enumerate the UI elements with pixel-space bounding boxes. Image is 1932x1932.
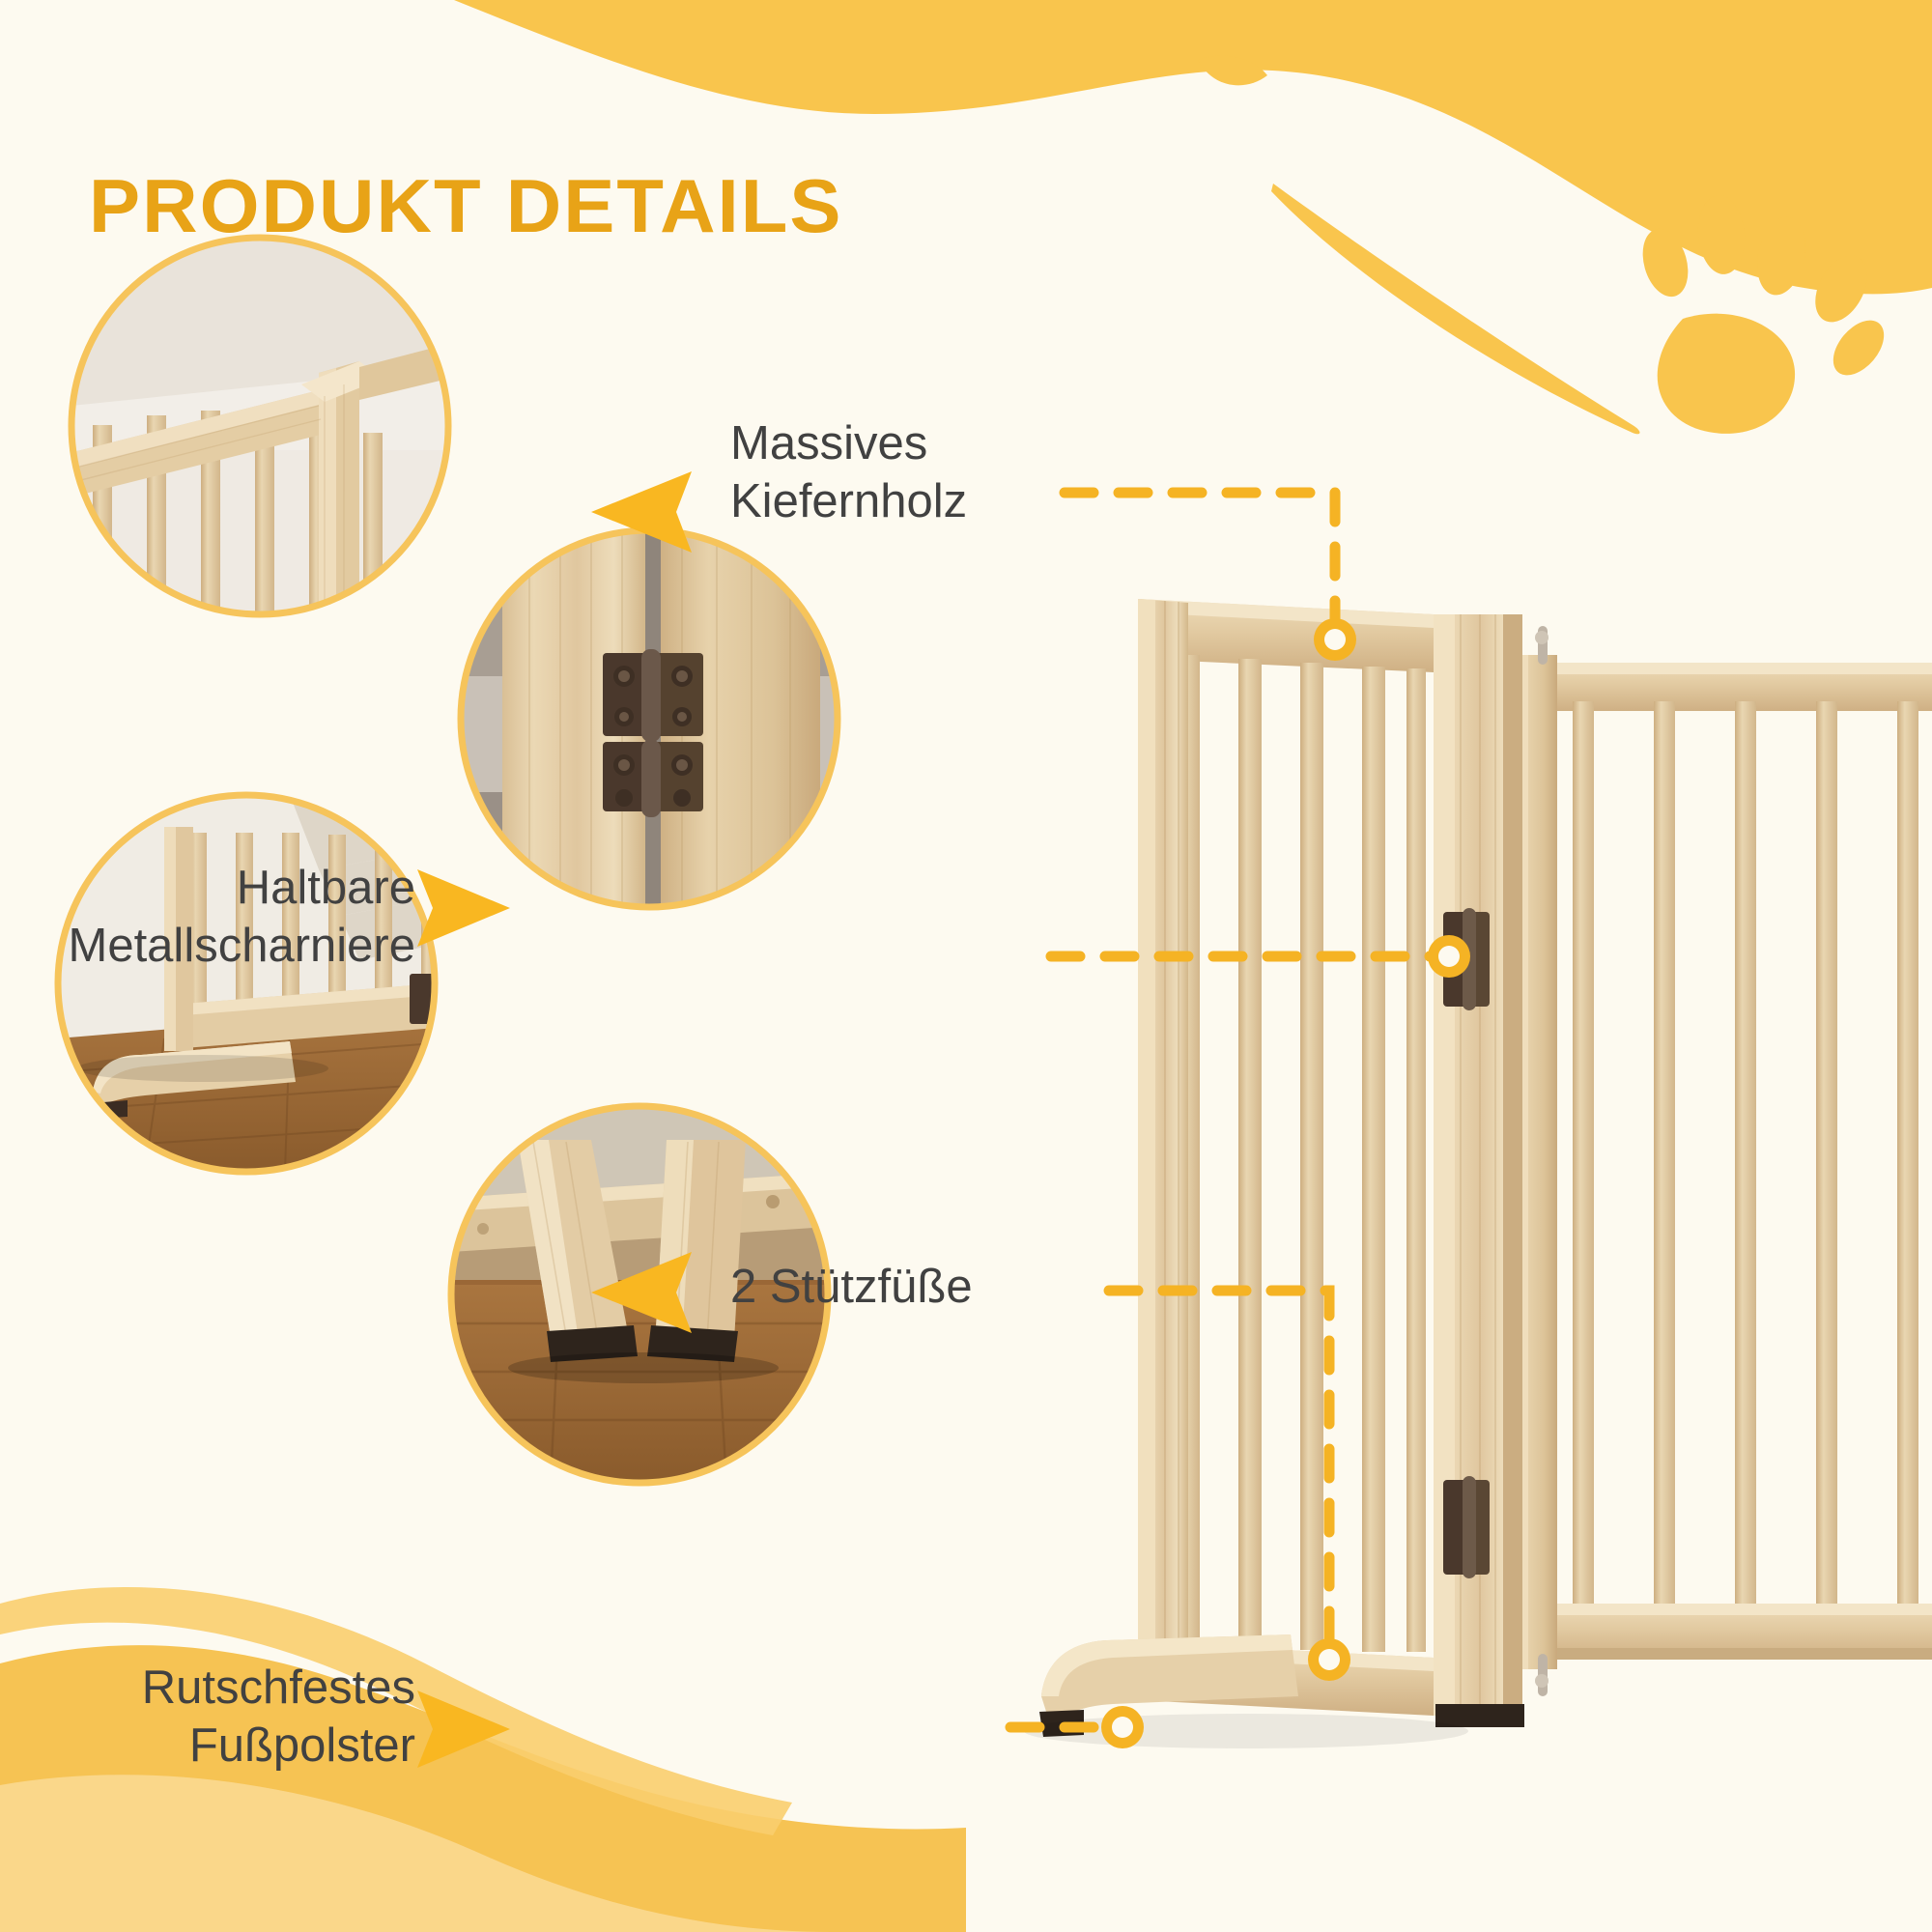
hinge-hardware (603, 649, 703, 817)
feature-arrows (417, 471, 692, 1768)
arrow-right-fusspolster (417, 1690, 510, 1768)
non-slip-pad-left (547, 1325, 638, 1362)
arrow-left-massives (591, 471, 692, 553)
feature-label-rutschfestes-fusspolster: Rutschfestes Fußpolster (0, 1660, 415, 1776)
hinge-lower (1443, 1476, 1490, 1578)
feature-label-massives-kiefernholz: Massives Kiefernholz (730, 415, 1136, 531)
page-title: PRODUKT DETAILS (89, 162, 843, 250)
gate-panel-left (1024, 599, 1468, 1748)
connector-lines (1010, 493, 1434, 1727)
photo-ring-1 (71, 238, 448, 614)
photo-top-rail-corner (58, 238, 448, 618)
hinge-upper (1443, 908, 1490, 1010)
infographic-canvas: PRODUKT DETAILS Massives Kiefernholz Hal… (0, 0, 1932, 1932)
photo-support-foot (58, 795, 437, 1172)
gate-panel-right (1515, 626, 1932, 1696)
feature-label-haltbare-metallscharniere: Haltbare Metallscharniere (0, 860, 415, 976)
arrow-right-scharniere (417, 869, 510, 947)
connector-stuetzfuesse (1109, 1291, 1329, 1642)
connector-endpoints (1101, 618, 1470, 1748)
non-slip-pad-right (647, 1325, 738, 1362)
support-foot-bar (1041, 1634, 1298, 1733)
photo-ring-3 (58, 795, 435, 1172)
swoosh-tail (1271, 184, 1640, 434)
product-pet-gate (1024, 599, 1932, 1748)
feature-label-2-stuetzfuesse: 2 Stützfüße (730, 1259, 1136, 1317)
gate-panel-middle (1434, 614, 1524, 1727)
photo-ring-2 (461, 530, 838, 907)
leaf-accent-1 (1198, 56, 1267, 86)
paw-print (1635, 193, 1894, 434)
photo-metal-hinge (461, 530, 838, 908)
arrow-left-stuetzfuesse (591, 1252, 692, 1333)
non-slip-pad (1039, 1710, 1084, 1737)
